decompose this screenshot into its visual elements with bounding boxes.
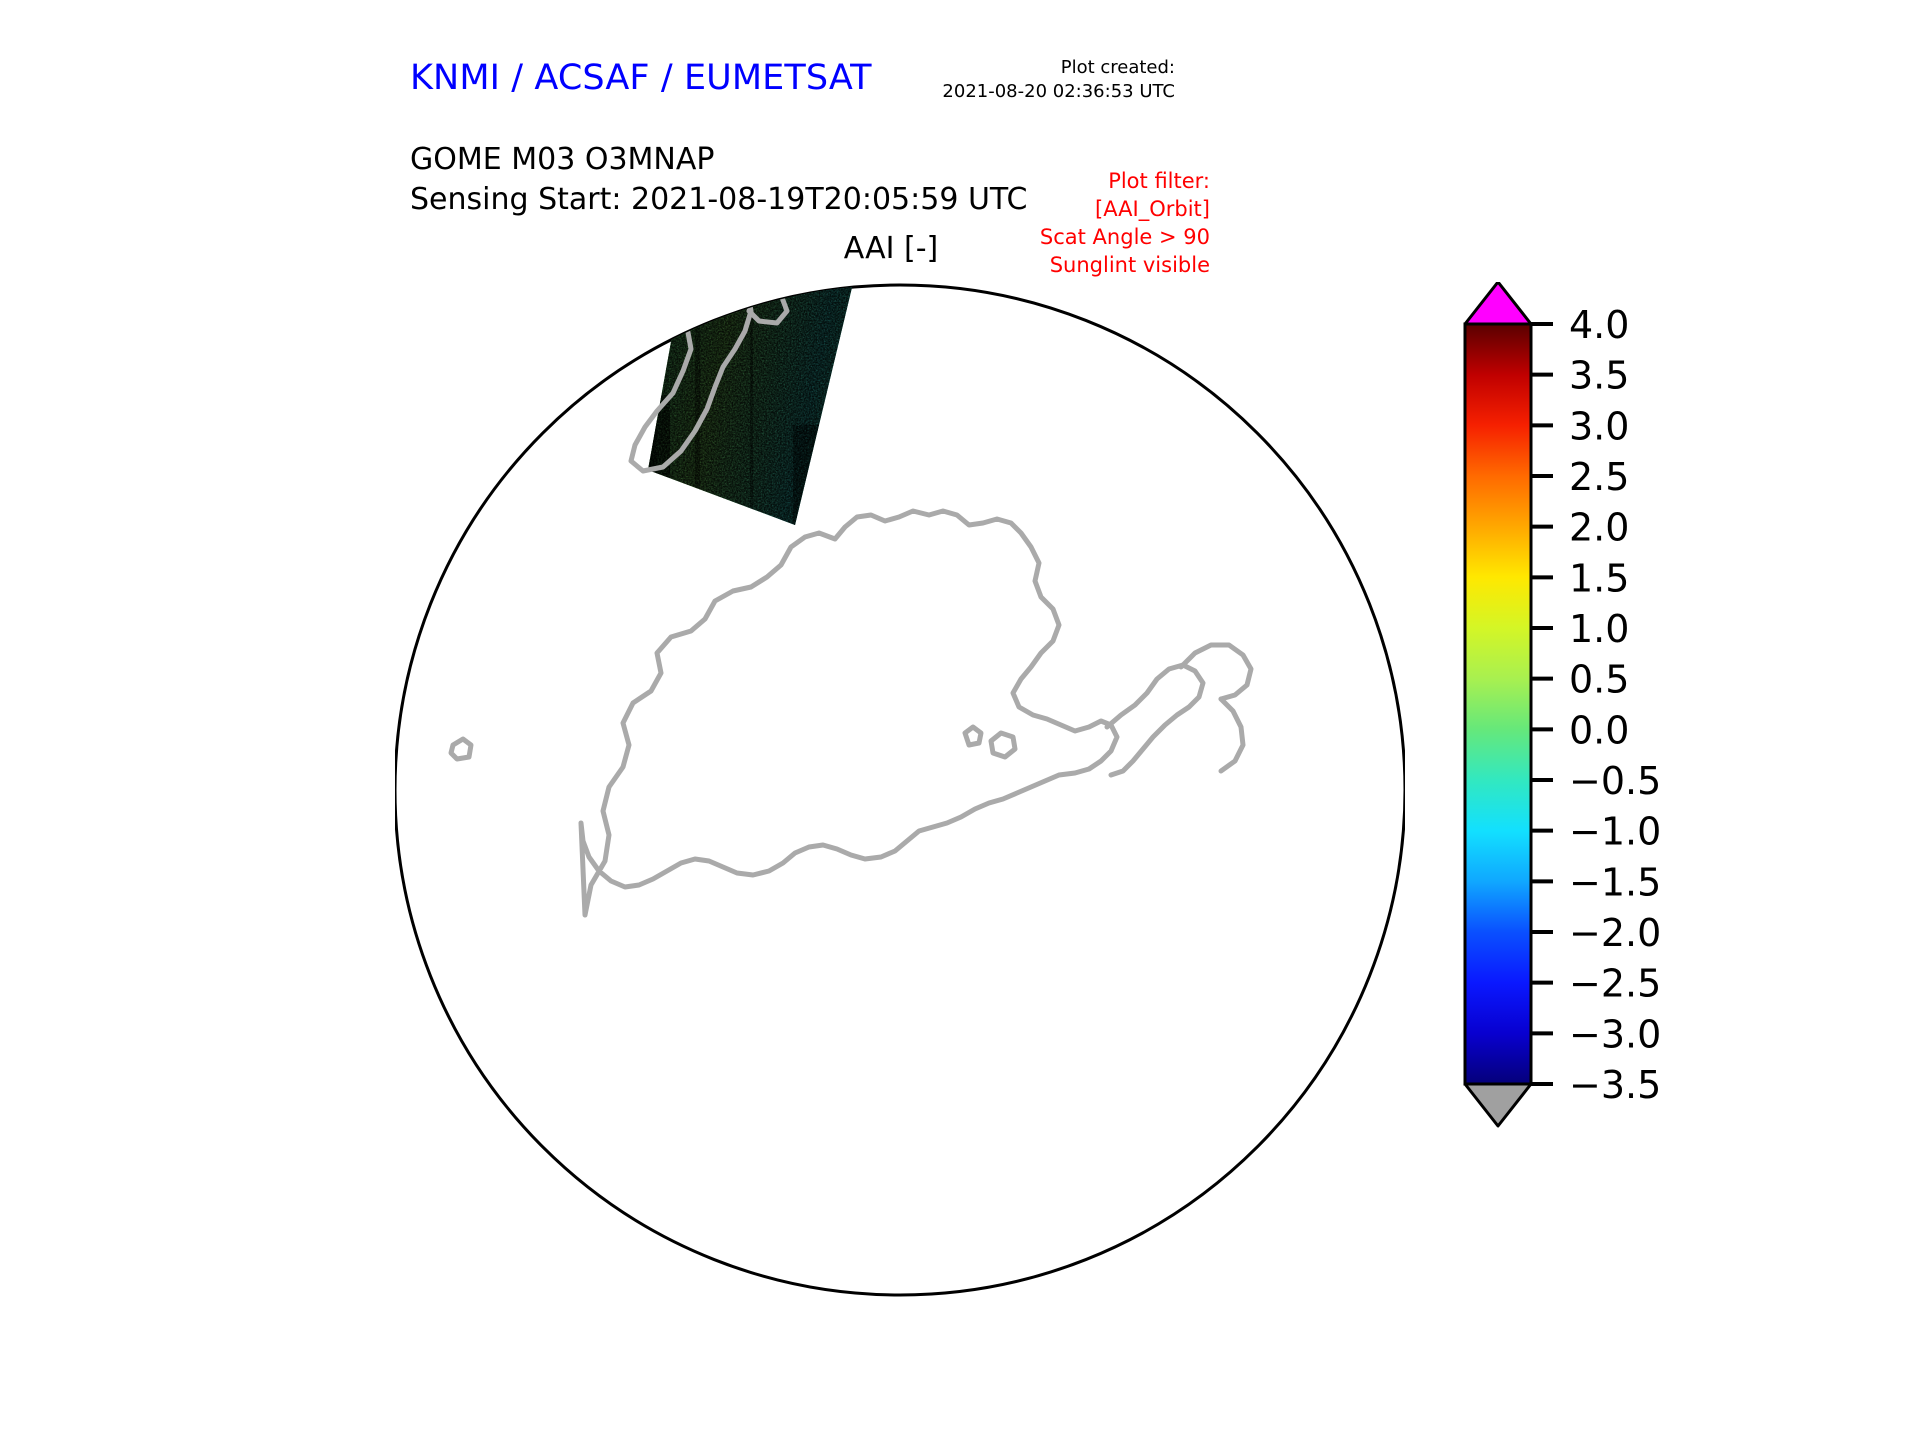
map-panel [395, 275, 1405, 1305]
colorbar-panel: 4.03.53.02.52.01.51.00.50.0−0.5−1.0−1.5−… [1443, 282, 1773, 1292]
product-name: GOME M03 O3MNAP [410, 140, 1027, 180]
plot-filter-label: Plot filter: [1040, 167, 1210, 195]
plot-filter-block: Plot filter: [AAI_Orbit] Scat Angle > 90… [1040, 167, 1210, 280]
colorbar-tick-label: −1.0 [1569, 810, 1661, 854]
product-info-block: GOME M03 O3MNAP Sensing Start: 2021-08-1… [410, 140, 1027, 219]
colorbar-tick-label: 3.0 [1569, 404, 1629, 448]
plot-filter-scat-angle: Scat Angle > 90 [1040, 223, 1210, 251]
colorbar-ticks: 4.03.53.02.52.01.51.00.50.0−0.5−1.0−1.5−… [1531, 303, 1661, 1107]
colorbar-tick-label: −3.5 [1569, 1063, 1661, 1107]
quantity-title-text: AAI [-] [844, 231, 939, 266]
organisation-title: KNMI / ACSAF / EUMETSAT [410, 58, 872, 98]
colorbar-tick-label: 3.5 [1569, 354, 1629, 398]
globe-outline [395, 285, 1405, 1295]
colorbar-tick-label: 0.0 [1569, 708, 1629, 752]
polar-map-svg [395, 275, 1405, 1305]
colorbar-tick-label: −1.5 [1569, 860, 1661, 904]
colorbar-gradient [1465, 324, 1531, 1084]
colorbar-tick-label: 1.5 [1569, 556, 1629, 600]
coastline-island-small-b [527, 361, 565, 399]
colorbar-tick-label: −2.0 [1569, 911, 1661, 955]
colorbar-svg: 4.03.53.02.52.01.51.00.50.0−0.5−1.0−1.5−… [1443, 282, 1773, 1292]
plot-created-label: Plot created: [942, 56, 1175, 80]
plot-created-timestamp: 2021-08-20 02:36:53 UTC [942, 80, 1175, 104]
sensing-start: Sensing Start: 2021-08-19T20:05:59 UTC [410, 180, 1027, 220]
colorbar-tick-label: −3.0 [1569, 1012, 1661, 1056]
colorbar-tick-label: 2.5 [1569, 455, 1629, 499]
quantity-title: AAI [-] [0, 231, 1920, 266]
colorbar-tick-label: 1.0 [1569, 607, 1629, 651]
colorbar-tick-label: −0.5 [1569, 759, 1661, 803]
colorbar-under-arrow [1465, 1084, 1531, 1126]
colorbar-tick-label: 0.5 [1569, 658, 1629, 702]
colorbar-tick-label: 4.0 [1569, 303, 1629, 347]
colorbar-tick-label: 2.0 [1569, 506, 1629, 550]
plot-created-block: Plot created: 2021-08-20 02:36:53 UTC [942, 56, 1175, 105]
colorbar-tick-label: −2.5 [1569, 962, 1661, 1006]
plot-filter-variable: [AAI_Orbit] [1040, 195, 1210, 223]
colorbar-over-arrow [1465, 282, 1531, 324]
coastline-island-small-a [513, 327, 555, 353]
